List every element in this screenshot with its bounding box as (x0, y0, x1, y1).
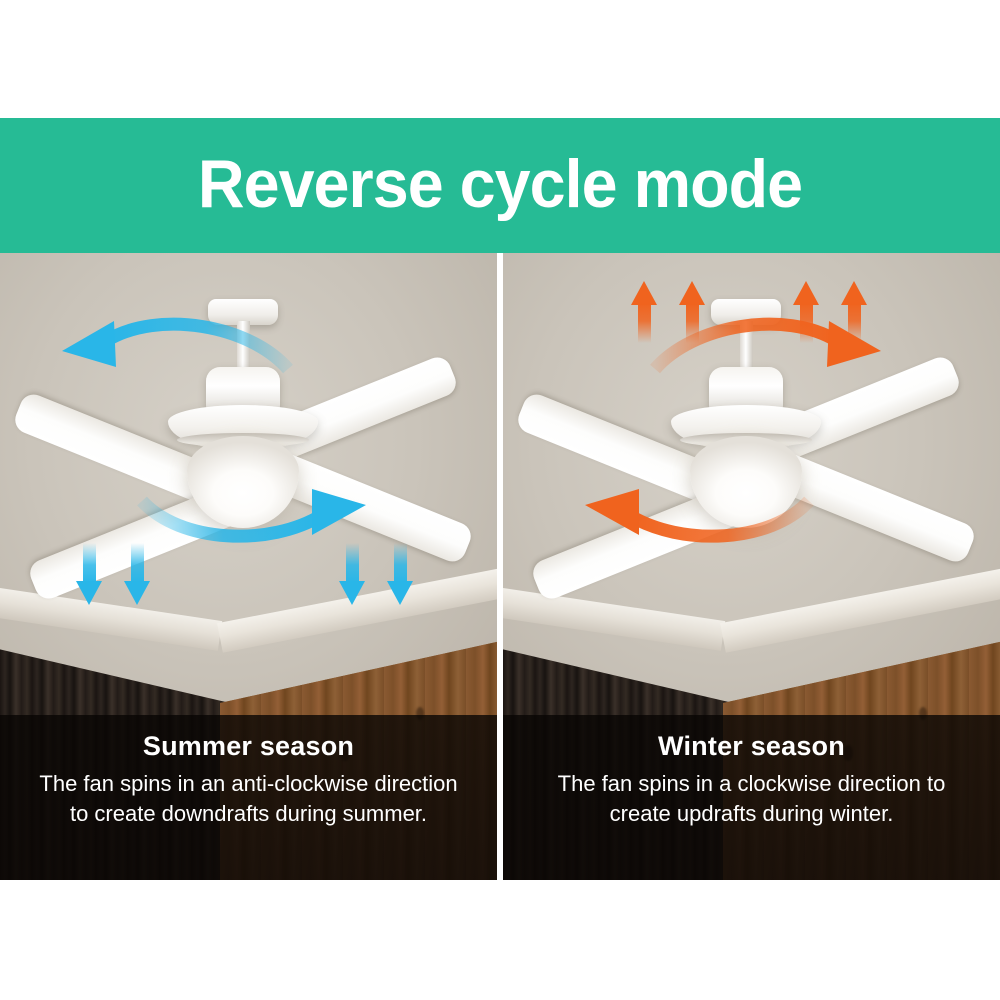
title-banner: Reverse cycle mode (0, 118, 1000, 253)
caption-title: Summer season (0, 729, 497, 763)
up-draft-arrow (631, 281, 657, 343)
caption-winter: Winter season The fan spins in a clockwi… (503, 715, 1000, 880)
up-draft-arrow (793, 281, 819, 343)
curved-rotation-arrow-bottom (140, 463, 390, 553)
down-draft-arrow (124, 543, 150, 605)
caption-body: The fan spins in a clockwise direction t… (503, 763, 1000, 829)
caption-body: The fan spins in an anti-clockwise direc… (0, 763, 497, 829)
up-draft-arrow (841, 281, 867, 343)
caption-summer: Summer season The fan spins in an anti-c… (0, 715, 497, 880)
down-draft-arrow (76, 543, 102, 605)
down-draft-arrow (339, 543, 365, 605)
panel-winter: Winter season The fan spins in a clockwi… (503, 253, 1000, 880)
caption-title: Winter season (503, 729, 1000, 763)
up-draft-arrow (679, 281, 705, 343)
product-infographic: Reverse cycle mode (0, 0, 1000, 1000)
panel-summer: Summer season The fan spins in an anti-c… (0, 253, 497, 880)
comparison-panels: Summer season The fan spins in an anti-c… (0, 253, 1000, 880)
curved-rotation-arrow-bottom (561, 463, 811, 553)
page-title: Reverse cycle mode (198, 150, 802, 222)
down-draft-arrow (387, 543, 413, 605)
curved-rotation-arrow-top (40, 311, 290, 401)
